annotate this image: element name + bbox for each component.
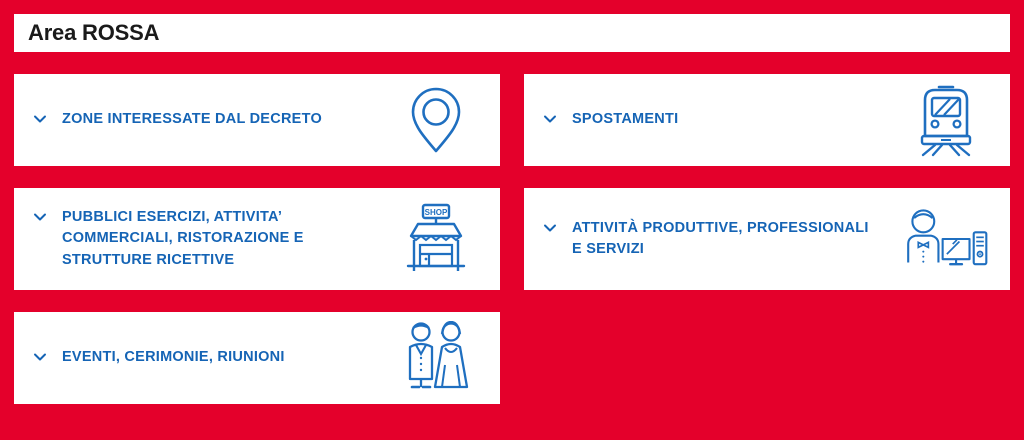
accordion-header-left: ZONE INTERESSATE DAL DECRETO (32, 109, 394, 130)
accordion-item-eventi-cerimonie[interactable]: EVENTI, CERIMONIE, RIUNIONI (14, 312, 500, 404)
chevron-down-icon[interactable] (542, 111, 558, 127)
accordion-column-left: ZONE INTERESSATE DAL DECRETO (14, 74, 500, 404)
accordion-item-attivita-produttive[interactable]: ATTIVITÀ PRODUTTIVE, PROFESSIONALI E SER… (524, 188, 1010, 290)
accordion-header-left: EVENTI, CERIMONIE, RIUNIONI (32, 347, 394, 368)
accordion-item-spostamenti[interactable]: SPOSTAMENTI (524, 74, 1010, 166)
map-pin-icon (394, 84, 478, 156)
accordion-item-label: ATTIVITÀ PRODUTTIVE, PROFESSIONALI E SER… (572, 218, 869, 260)
chevron-down-icon[interactable] (542, 220, 558, 236)
shop-storefront-icon: SHOP (394, 202, 478, 276)
accordion-item-label: PUBBLICI ESERCIZI, ATTIVITA’ COMMERCIALI… (62, 207, 304, 270)
worker-computer-icon (904, 201, 988, 277)
red-zone-page: Area ROSSA ZONE INTERESSATE DAL DECRETO (0, 0, 1024, 440)
accordion-header-left: PUBBLICI ESERCIZI, ATTIVITA’ COMMERCIALI… (32, 207, 394, 270)
accordion-item-zone-interessate[interactable]: ZONE INTERESSATE DAL DECRETO (14, 74, 500, 166)
chevron-down-icon[interactable] (32, 349, 48, 365)
train-front-icon (904, 82, 988, 158)
accordion-item-label: SPOSTAMENTI (572, 109, 678, 130)
wedding-couple-icon (394, 321, 478, 395)
chevron-down-icon[interactable] (32, 111, 48, 127)
accordion-column-right: SPOSTAMENTI (524, 74, 1010, 404)
accordion-header-left: SPOSTAMENTI (542, 109, 904, 130)
chevron-down-icon[interactable] (32, 209, 48, 225)
page-header: Area ROSSA (14, 14, 1010, 52)
svg-text:SHOP: SHOP (425, 208, 448, 217)
accordion-header-left: ATTIVITÀ PRODUTTIVE, PROFESSIONALI E SER… (542, 218, 904, 260)
accordion-item-pubblici-esercizi[interactable]: PUBBLICI ESERCIZI, ATTIVITA’ COMMERCIALI… (14, 188, 500, 290)
accordion-item-label: EVENTI, CERIMONIE, RIUNIONI (62, 347, 285, 368)
accordion-item-label: ZONE INTERESSATE DAL DECRETO (62, 109, 322, 130)
accordion-grid: ZONE INTERESSATE DAL DECRETO (14, 74, 1010, 404)
page-title: Area ROSSA (28, 22, 159, 44)
